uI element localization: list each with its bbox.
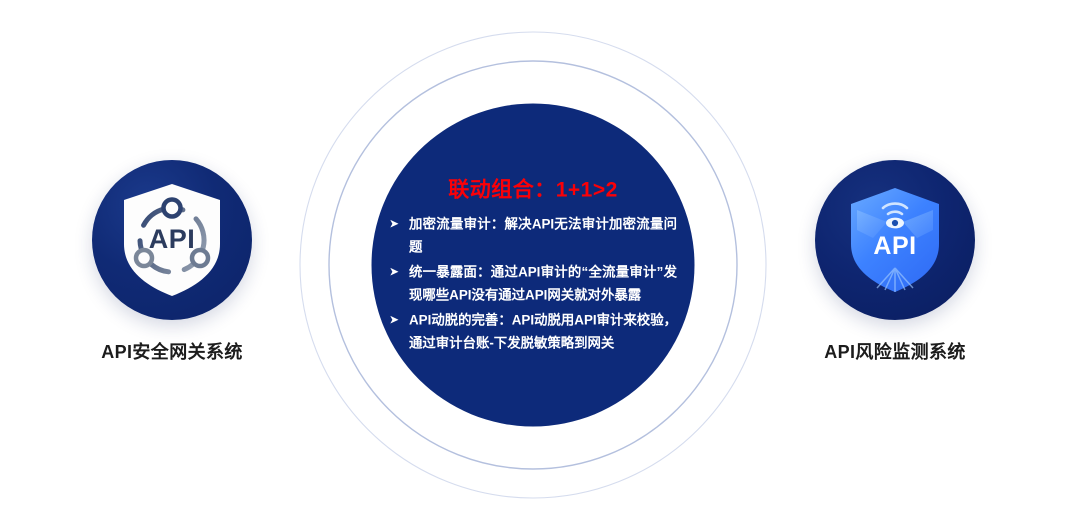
bullet-arrow-icon: ➤: [389, 213, 399, 236]
list-item-text: 统一暴露面：通过API审计的“全流量审计”发现哪些API没有通过API网关就对外…: [409, 265, 677, 303]
shield-api-radar-eye-icon: API: [843, 182, 947, 298]
list-item-text: API动脱的完善：API动脱用API审计来校验，通过审计台账-下发脱敏策略到网关: [409, 313, 677, 351]
list-item: ➤ API动脱的完善：API动脱用API审计来校验，通过审计台账-下发脱敏策略到…: [389, 309, 677, 355]
center-content: 联动组合：1+1>2 ➤ 加密流量审计：解决API无法审计加密流量问题 ➤ 统一…: [383, 174, 683, 357]
shield-api-network-icon: API: [120, 182, 224, 298]
right-shield-api-text: API: [873, 232, 916, 260]
left-badge-circle: API: [92, 160, 252, 320]
bullet-arrow-icon: ➤: [389, 261, 399, 284]
bullet-arrow-icon: ➤: [389, 309, 399, 332]
list-item-text: 加密流量审计：解决API无法审计加密流量问题: [409, 217, 677, 255]
list-item: ➤ 加密流量审计：解决API无法审计加密流量问题: [389, 213, 677, 259]
combo-title: 联动组合：1+1>2: [383, 174, 683, 204]
left-badge-label: API安全网关系统: [72, 338, 272, 364]
center-composition: 联动组合：1+1>2 ➤ 加密流量审计：解决API无法审计加密流量问题 ➤ 统一…: [283, 15, 783, 515]
left-shield-api-text: API: [149, 224, 196, 254]
list-item: ➤ 统一暴露面：通过API审计的“全流量审计”发现哪些API没有通过API网关就…: [389, 261, 677, 307]
left-badge-group: API API安全网关系统: [72, 160, 272, 364]
benefit-list: ➤ 加密流量审计：解决API无法审计加密流量问题 ➤ 统一暴露面：通过API审计…: [383, 213, 683, 355]
right-badge-group: API API风险监测系统: [795, 160, 995, 364]
right-badge-circle: API: [815, 160, 975, 320]
right-badge-label: API风险监测系统: [795, 338, 995, 364]
